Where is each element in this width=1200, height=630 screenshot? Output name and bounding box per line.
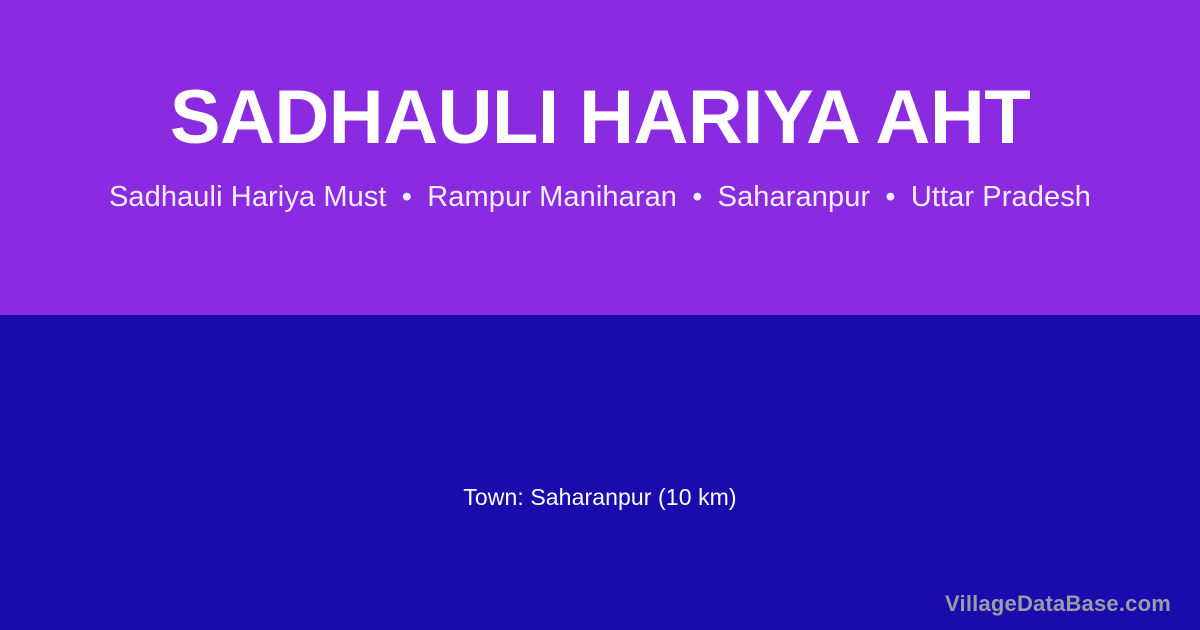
detail-panel: Town: Saharanpur (10 km) VillageDataBase… (0, 315, 1200, 630)
breadcrumb-item-state: Uttar Pradesh (911, 181, 1091, 213)
page-title: SADHAULI HARIYA AHT (50, 78, 1150, 158)
site-watermark: VillageDataBase.com (945, 591, 1171, 617)
breadcrumb: Sadhauli Hariya Must • Rampur Maniharan … (20, 180, 1180, 214)
breadcrumb-separator-icon: • (395, 181, 419, 213)
breadcrumb-separator-icon: • (878, 181, 902, 213)
nearest-town-text: Town: Saharanpur (10 km) (0, 483, 1200, 511)
breadcrumb-item-block: Rampur Maniharan (427, 181, 677, 213)
breadcrumb-item-village: Sadhauli Hariya Must (109, 181, 387, 213)
breadcrumb-separator-icon: • (685, 181, 709, 213)
village-info-card: SADHAULI HARIYA AHT Sadhauli Hariya Must… (0, 0, 1200, 630)
header-banner: SADHAULI HARIYA AHT Sadhauli Hariya Must… (0, 0, 1200, 315)
breadcrumb-item-district: Saharanpur (718, 181, 871, 213)
